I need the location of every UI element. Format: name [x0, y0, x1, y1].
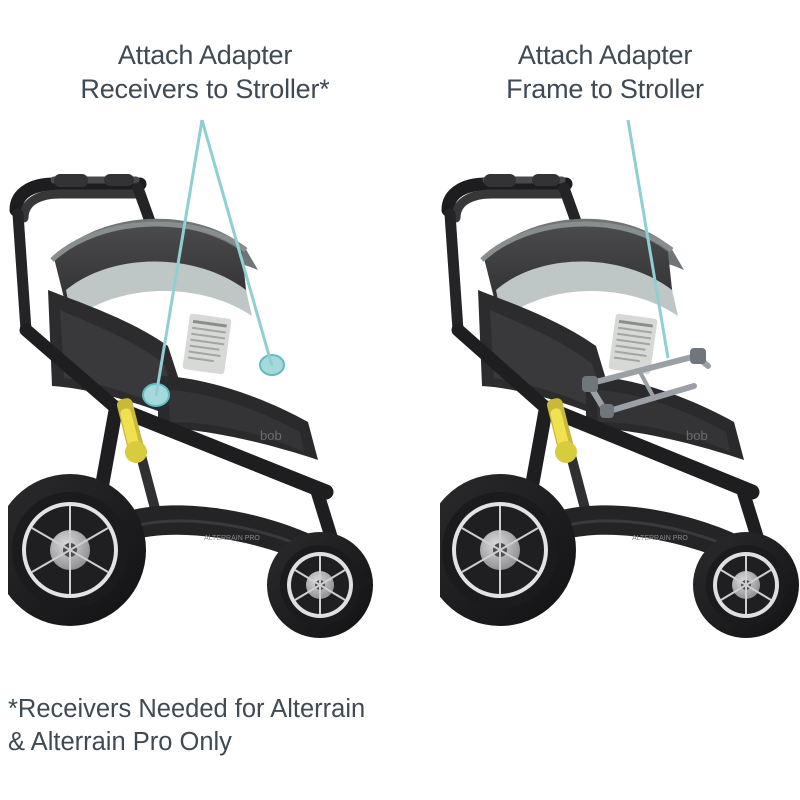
frame-badge: ALTERRAIN PRO [204, 535, 260, 542]
panel-title-left: Attach Adapter Receivers to Stroller* [10, 38, 400, 107]
handle-grip [484, 174, 516, 187]
handle-grip-2 [532, 174, 560, 186]
footnote-text: *Receivers Needed for Alterrain & Alterr… [8, 693, 478, 759]
frame-badge: ALTERRAIN PRO [632, 535, 688, 542]
brand-logo-seat: bob [260, 428, 282, 443]
instruction-graphic: Attach Adapter Receivers to Stroller* At… [0, 0, 800, 800]
suspension-badge [555, 441, 577, 463]
handle-grip-2 [104, 174, 134, 186]
stroller-illustration-left: bob ALTERRAIN PRO [8, 140, 398, 650]
rear-wheel-right [440, 474, 576, 626]
rear-wheel-left [8, 474, 146, 626]
front-wheel-left [267, 532, 373, 638]
adapter-receiver-highlight-upper [143, 384, 169, 406]
front-wheel-right [693, 532, 799, 638]
handle-grip [54, 174, 88, 187]
suspension-badge [125, 441, 147, 463]
stroller-illustration-right: bob ALTERRAIN PRO [440, 140, 800, 650]
panel-title-right: Attach Adapter Frame to Stroller [410, 38, 800, 107]
brand-logo-seat: bob [686, 428, 708, 443]
adapter-receiver-highlight-lower [260, 355, 284, 375]
